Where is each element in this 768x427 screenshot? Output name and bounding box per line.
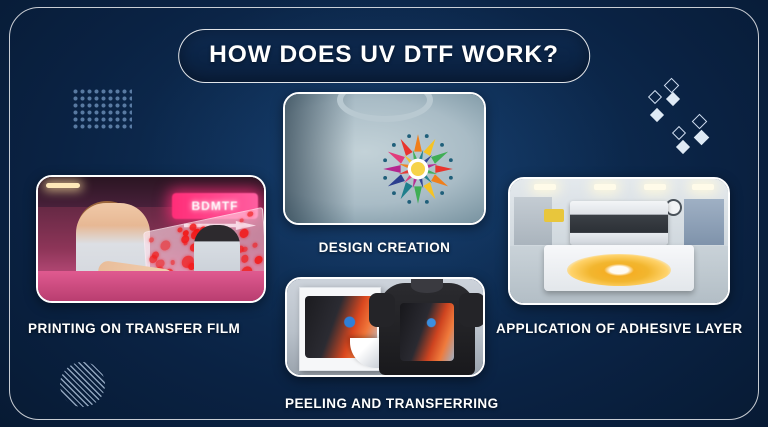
diamond-filled-icon [694, 130, 710, 146]
mandala-dot [425, 134, 429, 138]
mandala-petal [383, 165, 400, 173]
diamond-filled-icon [650, 108, 664, 122]
ink-blob [254, 255, 262, 264]
caption-design-creation: DESIGN CREATION [283, 240, 486, 255]
mandala-petal [388, 174, 405, 186]
ceiling-light [692, 184, 714, 190]
shirt-shadow [285, 94, 355, 223]
ceiling-lamp [46, 183, 80, 188]
hatched-circle-decoration [60, 362, 105, 407]
ceiling-light [534, 184, 556, 190]
mandala-dot [449, 176, 453, 180]
yellow-bin [544, 209, 564, 222]
mandala-petal [431, 152, 448, 164]
ink-blob [177, 227, 182, 233]
mandala-dot [425, 200, 429, 204]
ink-blob [240, 218, 244, 222]
peeling-corner [350, 338, 380, 368]
mandala-petal [423, 182, 435, 199]
photo-card-design-creation [283, 92, 486, 225]
right-stacked-boxes [684, 199, 724, 245]
mandala-dot [407, 200, 411, 204]
tshirt-sleeve-left [369, 293, 395, 327]
mandala-dot [392, 191, 396, 195]
caption-application-of-adhesive-layer: APPLICATION OF ADHESIVE LAYER [496, 321, 743, 336]
mandala-dot [449, 158, 453, 162]
tshirt-sleeve-right [459, 293, 483, 327]
mandala-dot [440, 191, 444, 195]
diamond-filled-icon [676, 140, 690, 154]
mandala-petal [414, 134, 422, 151]
powder-design-highlight [602, 263, 636, 277]
mandala-petal [388, 152, 405, 164]
dot-grid-decoration [72, 88, 132, 130]
black-tshirt [379, 283, 475, 375]
caption-peeling-and-transferring: PEELING AND TRANSFERRING [285, 396, 485, 411]
diamond-filled-icon [666, 92, 680, 106]
mandala-center [411, 162, 425, 176]
ink-blob [171, 260, 176, 265]
tshirt-artwork [400, 303, 454, 361]
ink-blob [241, 255, 249, 263]
diamond-outline-icon [692, 114, 708, 130]
mandala-petal [414, 186, 422, 203]
photo-design-creation [285, 94, 484, 223]
photo-printing-on-transfer-film: BDMTF [38, 177, 264, 301]
mandala-dot [440, 143, 444, 147]
ink-blob [247, 211, 253, 217]
ink-blob [160, 240, 171, 252]
mandala-dot [383, 176, 387, 180]
ink-blob [184, 241, 188, 245]
mandala-petal [401, 139, 413, 156]
ink-blob [151, 251, 159, 260]
diamond-outline-icon [648, 90, 662, 104]
photo-application-of-adhesive-layer [510, 179, 728, 303]
mandala-dot [407, 134, 411, 138]
print-table [38, 271, 264, 301]
diamond-cluster-decoration [648, 76, 724, 148]
mandala-petal [431, 174, 448, 186]
photo-card-application-of-adhesive-layer [508, 177, 730, 305]
mandala-petal [401, 182, 413, 199]
tshirt-neckline [411, 279, 443, 293]
diamond-outline-icon [672, 126, 686, 140]
ink-blob [239, 228, 249, 239]
dtf-printer [570, 201, 668, 245]
mandala-artwork-icon [381, 132, 455, 206]
photo-peeling-and-transferring [287, 279, 483, 375]
diamond-outline-icon [664, 78, 680, 94]
page-title: HOW DOES UV DTF WORK? [209, 41, 559, 69]
title-pill: HOW DOES UV DTF WORK? [178, 29, 590, 83]
mandala-petal [435, 165, 452, 173]
caption-printing-on-transfer-film: PRINTING ON TRANSFER FILM [28, 321, 240, 336]
photo-card-peeling-and-transferring [285, 277, 485, 377]
mandala-petal [423, 139, 435, 156]
ceiling-light [594, 184, 616, 190]
mandala-dot [383, 158, 387, 162]
infographic-canvas: HOW DOES UV DTF WORK? DESIGN CREATION BD… [0, 0, 768, 427]
ink-blob [149, 237, 154, 242]
ceiling-light [644, 184, 666, 190]
ink-blob [253, 242, 258, 247]
mandala-dot [392, 143, 396, 147]
photo-card-printing-on-transfer-film: BDMTF [36, 175, 266, 303]
